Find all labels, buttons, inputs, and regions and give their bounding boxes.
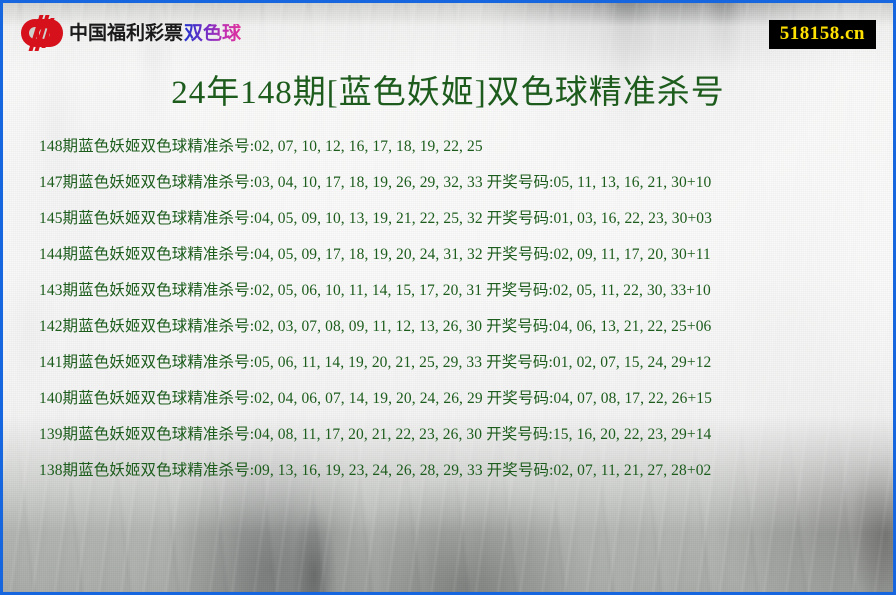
list-item: 148期蓝色妖姬双色球精准杀号:02, 07, 10, 12, 16, 17, … [39,129,873,165]
brand-lockup: 中国福利彩票 双色球 [21,15,241,51]
list-item: 145期蓝色妖姬双色球精准杀号:04, 05, 09, 10, 13, 19, … [39,201,873,237]
list-item: 142期蓝色妖姬双色球精准杀号:02, 03, 07, 08, 09, 11, … [39,309,873,345]
page-header: 中国福利彩票 双色球 518158.cn [3,3,893,63]
list-item: 140期蓝色妖姬双色球精准杀号:02, 04, 06, 07, 14, 19, … [39,381,873,417]
list-item: 138期蓝色妖姬双色球精准杀号:09, 13, 16, 19, 23, 24, … [39,453,873,489]
lottery-prediction-page: 中国福利彩票 双色球 518158.cn 24年148期[蓝色妖姬]双色球精准杀… [0,0,896,595]
list-item: 144期蓝色妖姬双色球精准杀号:04, 05, 09, 17, 18, 19, … [39,237,873,273]
site-url-badge[interactable]: 518158.cn [769,20,876,49]
page-title: 24年148期[蓝色妖姬]双色球精准杀号 [3,65,893,113]
brand-product-name: 双色球 [184,24,241,43]
china-welfare-lottery-logo-icon [21,16,63,50]
prediction-list: 148期蓝色妖姬双色球精准杀号:02, 07, 10, 12, 16, 17, … [39,129,873,489]
list-item: 141期蓝色妖姬双色球精准杀号:05, 06, 11, 14, 19, 20, … [39,345,873,381]
list-item: 143期蓝色妖姬双色球精准杀号:02, 05, 06, 10, 11, 14, … [39,273,873,309]
brand-name: 中国福利彩票 [69,24,183,43]
list-item: 139期蓝色妖姬双色球精准杀号:04, 08, 11, 17, 20, 21, … [39,417,873,453]
list-item: 147期蓝色妖姬双色球精准杀号:03, 04, 10, 17, 18, 19, … [39,165,873,201]
